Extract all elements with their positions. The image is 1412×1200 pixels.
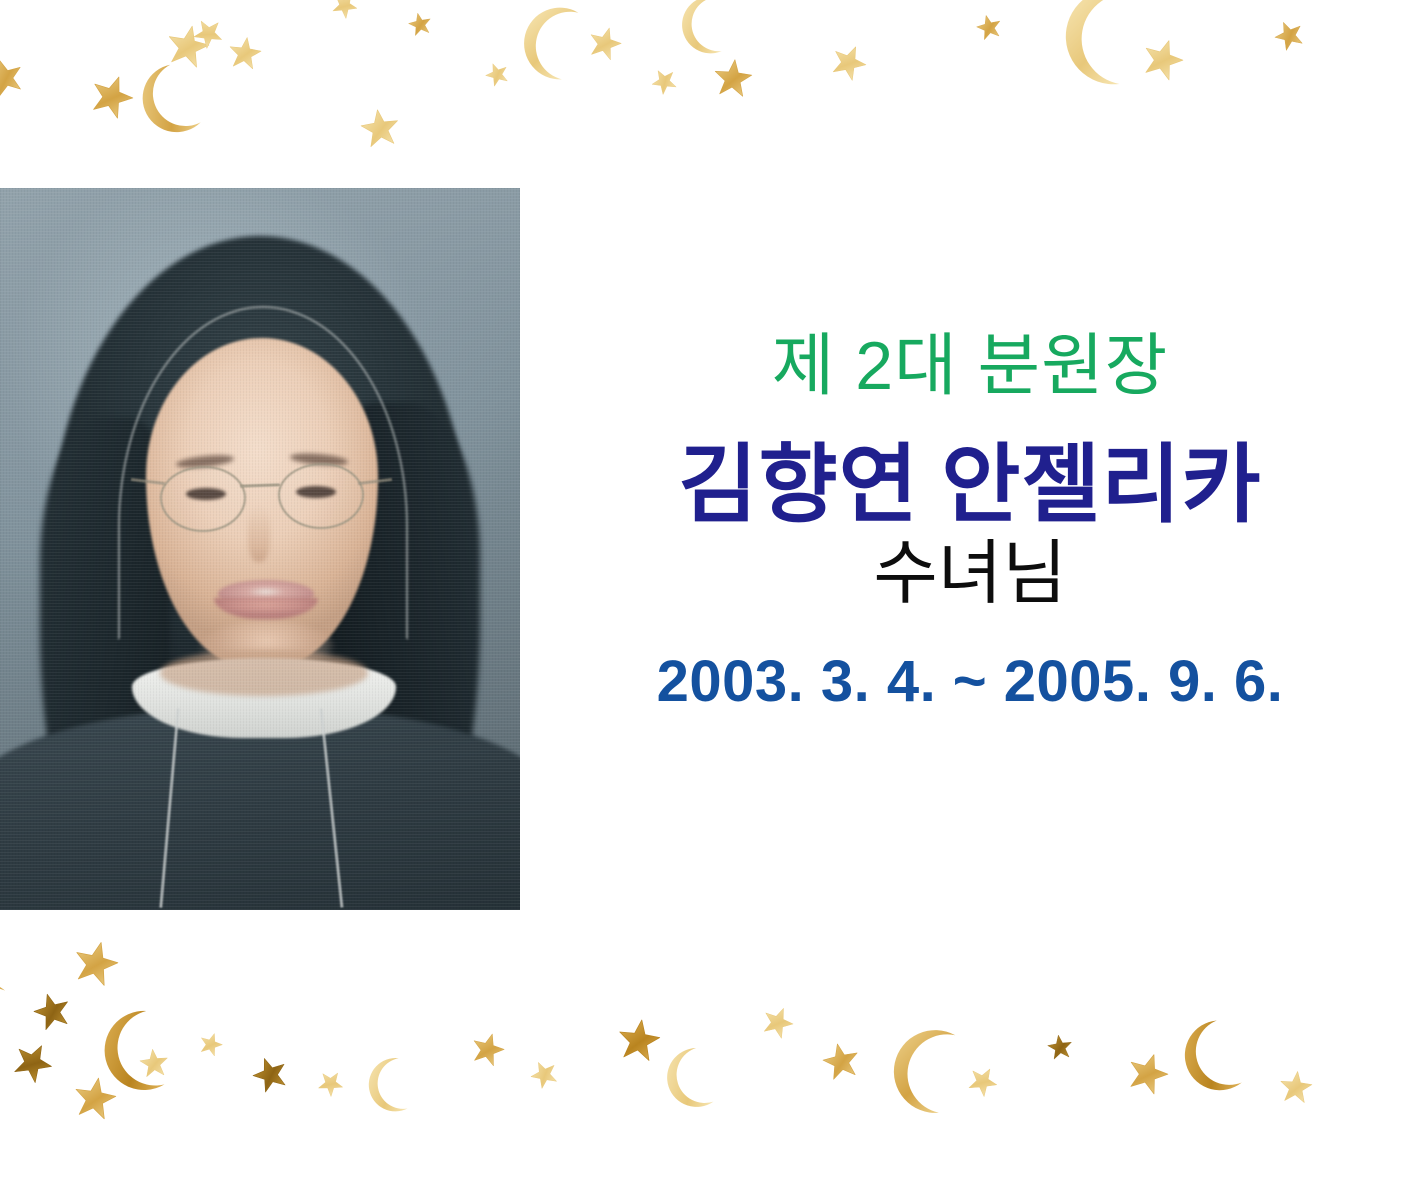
moon-icon	[655, 1038, 736, 1119]
moon-icon	[1051, 0, 1171, 96]
commemorative-poster: 제 2대 분원장 김향연 안젤리카 수녀님 2003. 3. 4. ~ 2005…	[0, 0, 1412, 1200]
person-name: 김향연 안젤리카	[540, 440, 1400, 531]
top-decoration-border	[0, 0, 1412, 190]
star-icon	[29, 987, 76, 1034]
moon-icon	[880, 1018, 987, 1125]
star-icon	[0, 53, 29, 101]
photo-grain	[0, 188, 520, 910]
moon-icon	[675, 0, 743, 59]
star-icon	[1121, 1047, 1174, 1100]
star-icon	[758, 1001, 800, 1043]
star-icon	[481, 58, 512, 89]
role-title: 제 2대 분원장	[540, 330, 1400, 402]
star-icon	[327, 0, 363, 23]
moon-icon	[511, 0, 606, 90]
moon-icon	[90, 999, 194, 1103]
star-icon	[1046, 1032, 1075, 1061]
term-dates: 2003. 3. 4. ~ 2005. 9. 6.	[540, 651, 1400, 714]
star-icon	[69, 1073, 120, 1124]
star-icon	[138, 1047, 171, 1080]
caption-block: 제 2대 분원장 김향연 안젤리카 수녀님 2003. 3. 4. ~ 2005…	[540, 330, 1400, 713]
star-icon	[711, 56, 755, 100]
star-icon	[84, 68, 140, 124]
star-icon	[162, 20, 214, 72]
star-icon	[646, 63, 682, 99]
moon-icon	[125, 49, 225, 149]
star-icon	[406, 10, 434, 38]
bottom-decoration-border	[0, 930, 1412, 1200]
moon-icon	[1169, 1007, 1268, 1106]
moon-icon	[360, 1051, 427, 1118]
star-icon	[526, 1055, 563, 1092]
honorific: 수녀님	[540, 537, 1400, 613]
portrait-photo	[0, 188, 520, 910]
star-icon	[467, 1028, 509, 1070]
star-icon	[1278, 1068, 1315, 1105]
moon-icon	[0, 962, 38, 1087]
star-icon	[962, 1061, 1003, 1102]
star-icon	[825, 38, 873, 86]
star-icon	[1137, 33, 1190, 86]
star-icon	[247, 1051, 293, 1097]
star-icon	[196, 1029, 226, 1059]
star-icon	[818, 1038, 863, 1083]
star-icon	[188, 12, 230, 54]
star-icon	[6, 1035, 60, 1089]
star-icon	[68, 935, 124, 991]
star-icon	[973, 11, 1005, 43]
star-icon	[1269, 15, 1309, 55]
star-icon	[226, 34, 264, 72]
moon-icon	[0, 0, 46, 94]
star-icon	[313, 1065, 349, 1101]
star-icon	[584, 22, 626, 64]
star-icon	[614, 1015, 664, 1065]
star-icon	[357, 105, 402, 150]
